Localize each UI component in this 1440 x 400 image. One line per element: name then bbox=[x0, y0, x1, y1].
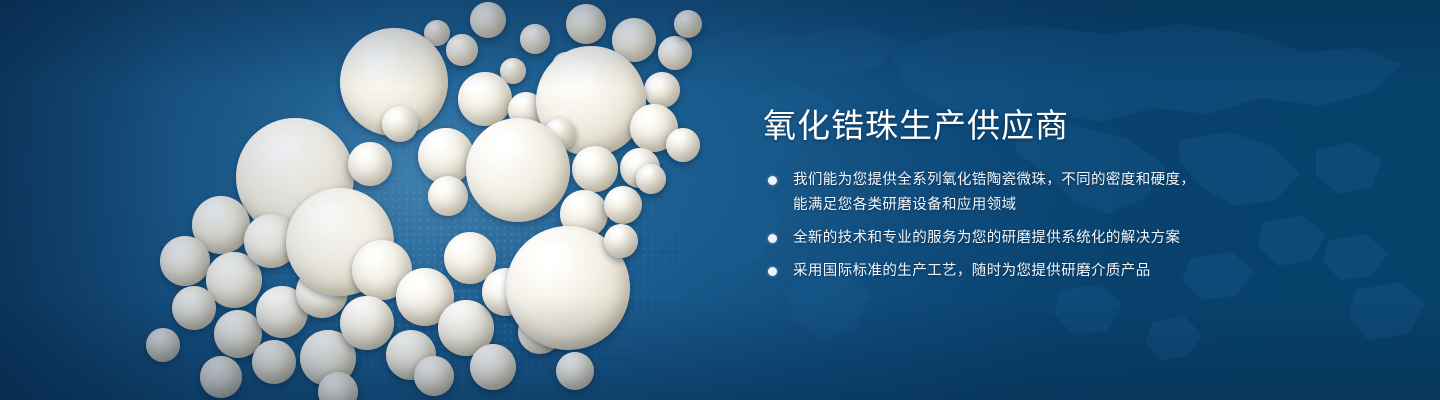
bullet-line: 我们能为您提供全系列氧化锆陶瓷微珠，不同的密度和硬度， bbox=[793, 168, 1383, 193]
list-item: 采用国际标准的生产工艺，随时为您提供研磨介质产品 bbox=[763, 259, 1383, 284]
banner-copy: 氧化锆珠生产供应商 我们能为您提供全系列氧化锆陶瓷微珠，不同的密度和硬度， 能满… bbox=[763, 106, 1383, 284]
banner-headline: 氧化锆珠生产供应商 bbox=[763, 106, 1383, 146]
list-item: 全新的技术和专业的服务为您的研磨提供系统化的解决方案 bbox=[763, 226, 1383, 251]
bullet-dot-icon bbox=[768, 267, 777, 276]
hero-banner: 氧化锆珠生产供应商 我们能为您提供全系列氧化锆陶瓷微珠，不同的密度和硬度， 能满… bbox=[0, 0, 1440, 400]
bullet-dot-icon bbox=[768, 234, 777, 243]
bullet-line: 能满足您各类研磨设备和应用领域 bbox=[793, 193, 1383, 218]
list-item: 我们能为您提供全系列氧化锆陶瓷微珠，不同的密度和硬度， 能满足您各类研磨设备和应… bbox=[763, 168, 1383, 218]
bullet-dot-icon bbox=[768, 176, 777, 185]
feature-bullet-list: 我们能为您提供全系列氧化锆陶瓷微珠，不同的密度和硬度， 能满足您各类研磨设备和应… bbox=[763, 168, 1383, 284]
bullet-line: 全新的技术和专业的服务为您的研磨提供系统化的解决方案 bbox=[793, 226, 1383, 251]
bullet-line: 采用国际标准的生产工艺，随时为您提供研磨介质产品 bbox=[793, 259, 1383, 284]
